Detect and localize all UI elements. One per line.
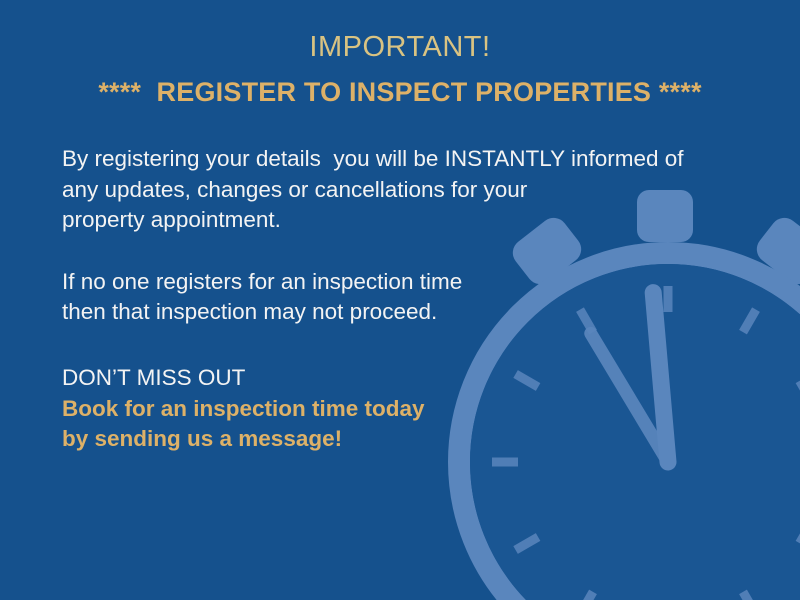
cta-line-book-inspection: Book for an inspection time today — [62, 394, 682, 425]
cta-block: DON’T MISS OUT Book for an inspection ti… — [62, 363, 682, 455]
headline-register: **** REGISTER TO INSPECT PROPERTIES **** — [0, 76, 800, 108]
paragraph-spacer — [62, 236, 722, 267]
headline-important: IMPORTANT! — [0, 30, 800, 64]
text-layer: IMPORTANT! **** REGISTER TO INSPECT PROP… — [0, 0, 800, 600]
body-paragraph-2: If no one registers for an inspection ti… — [62, 267, 722, 328]
slide-canvas: IMPORTANT! **** REGISTER TO INSPECT PROP… — [0, 0, 800, 600]
body-paragraph-1: By registering your details you will be … — [62, 144, 722, 236]
cta-line-send-message: by sending us a message! — [62, 424, 682, 455]
cta-line-dont-miss-out: DON’T MISS OUT — [62, 363, 682, 394]
body-block: By registering your details you will be … — [62, 144, 722, 328]
headline-block: IMPORTANT! **** REGISTER TO INSPECT PROP… — [0, 30, 800, 109]
